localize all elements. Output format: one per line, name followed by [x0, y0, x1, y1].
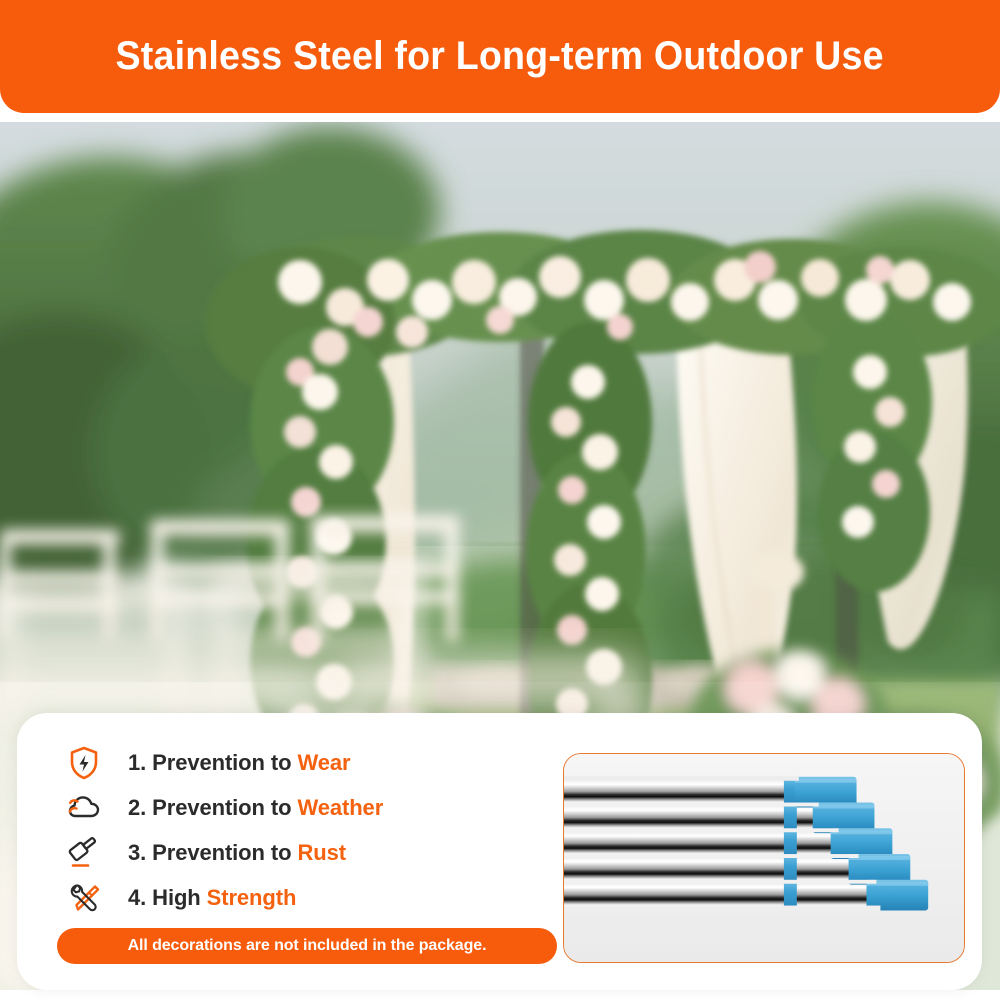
wrench-screwdriver-icon	[62, 878, 106, 918]
product-image-panel	[563, 753, 965, 963]
feature-accent: Wear	[297, 750, 350, 775]
feature-list: 1. Prevention to Wear 2. Prevention to W…	[62, 741, 562, 921]
package-note-badge: All decorations are not included in the …	[57, 928, 557, 964]
feature-accent: Weather	[297, 795, 383, 820]
feature-label: 4. High Strength	[128, 885, 296, 911]
header-banner: Stainless Steel for Long-term Outdoor Us…	[0, 0, 1000, 113]
info-card: 1. Prevention to Wear 2. Prevention to W…	[17, 713, 982, 990]
package-note-text: All decorations are not included in the …	[128, 937, 487, 955]
feature-item-weather: 2. Prevention to Weather	[62, 786, 562, 830]
feature-label: 1. Prevention to Wear	[128, 750, 350, 776]
cloud-wind-icon	[62, 788, 106, 828]
feature-accent: Strength	[207, 885, 297, 910]
feature-label: 3. Prevention to Rust	[128, 840, 346, 866]
feature-item-wear: 1. Prevention to Wear	[62, 741, 562, 785]
feature-accent: Rust	[297, 840, 346, 865]
feature-item-strength: 4. High Strength	[62, 876, 562, 920]
page-title: Stainless Steel for Long-term Outdoor Us…	[116, 34, 884, 79]
feature-item-rust: 3. Prevention to Rust	[62, 831, 562, 875]
feature-label: 2. Prevention to Weather	[128, 795, 383, 821]
shield-bolt-icon	[62, 743, 106, 783]
gavel-icon	[62, 833, 106, 873]
steel-rods-illustration	[564, 754, 964, 962]
